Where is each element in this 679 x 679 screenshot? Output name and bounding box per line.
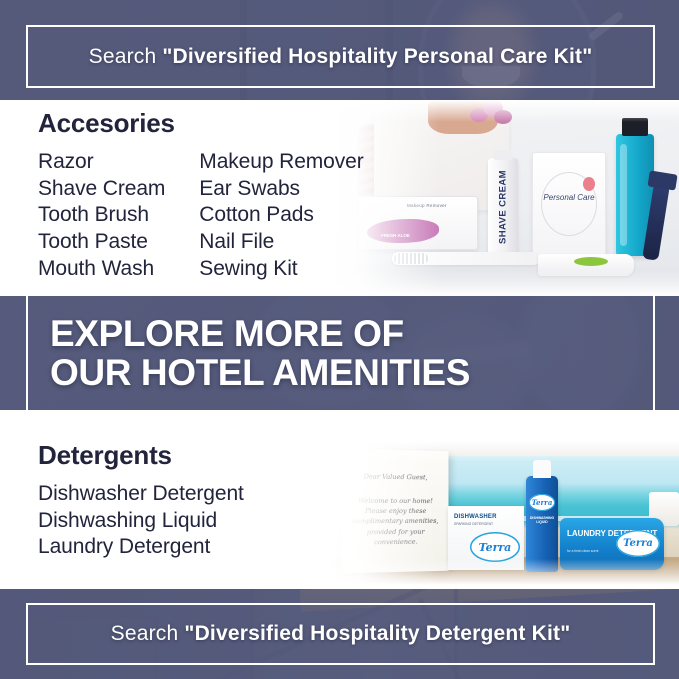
top-search-query: "Diversified Hospitality Personal Care K… [162,45,592,68]
accessory-item: Cotton Pads [199,202,363,229]
explore-heading: EXPLORE MORE OF OUR HOTEL AMENITIES [28,314,470,392]
laundry-detergent-pouch: LAUNDRY DETERGENT for a fresh clean scen… [560,518,664,570]
dishwashing-liquid-bottle: Terra DISHWASHING LIQUID [526,476,558,572]
bottle-cap-shape [622,118,648,136]
soap-label: Personal Care [533,193,605,202]
toothpaste-tube-product [538,254,634,276]
accessory-item: Tooth Paste [38,229,165,256]
accessories-title: Accesories [38,108,364,139]
note-salutation: Dear Valued Guest, [341,471,448,483]
detergent-kit-photo: Dear Valued Guest, Welcome to our home! … [330,440,679,585]
detergents-text-block: Detergents Dishwasher Detergent Dishwash… [38,440,244,561]
terra-brand-logo: Terra [470,532,520,562]
toothpaste-brand-shape [574,257,608,266]
terra-brand-logo: Terra [529,494,555,511]
makeup-remover-wipes-package: Makeup Remover FRESH ALOE [358,196,478,250]
tube-cap-shape [494,150,512,160]
bottom-search-query: "Diversified Hospitality Detergent Kit" [184,622,570,645]
shave-cream-tube: SHAVE CREAM [488,158,518,256]
bottom-search-text: Search "Diversified Hospitality Detergen… [111,622,571,646]
laundry-pouch-subtitle: for a fresh clean scent [567,549,598,553]
detergents-list: Dishwasher Detergent Dishwashing Liquid … [38,481,244,561]
detergent-item: Dishwashing Liquid [38,508,244,535]
soap-accent-shape [583,177,595,191]
bottom-search-banner: Search "Diversified Hospitality Detergen… [0,589,679,679]
welcome-note-card: Dear Valued Guest, Welcome to our home! … [341,449,448,574]
detergent-item: Laundry Detergent [38,534,244,561]
top-search-lead: Search [89,45,163,68]
accessory-item: Sewing Kit [199,256,363,283]
accessory-item: Ear Swabs [199,176,363,203]
detergents-section: Dear Valued Guest, Welcome to our home! … [0,410,679,589]
wipes-swoosh-shape [367,219,439,243]
note-body: Welcome to our home! Please enjoy these … [341,496,448,548]
accessories-columns: Razor Shave Cream Tooth Brush Tooth Past… [38,149,364,282]
accessories-column-1: Razor Shave Cream Tooth Brush Tooth Past… [38,149,165,282]
personal-care-soap-box: Personal Care [532,152,606,256]
detergents-title: Detergents [38,440,244,471]
top-banner-frame: Search "Diversified Hospitality Personal… [26,25,655,88]
liquid-bottle-label: DISHWASHING LIQUID [526,516,558,524]
dishwasher-packet-subtitle: SPARKING DETERGENT [454,522,493,526]
orchid-flower-icon [470,100,514,134]
accessory-item: Mouth Wash [38,256,165,283]
toothbrush-product [392,252,540,265]
toothbrush-bristles-shape [394,253,428,264]
accessory-item: Nail File [199,229,363,256]
personal-care-kit-photo: Makeup Remover FRESH ALOE SHAVE CREAM Pe… [330,100,679,296]
accessories-section: Makeup Remover FRESH ALOE SHAVE CREAM Pe… [0,100,679,296]
top-search-text: Search "Diversified Hospitality Personal… [89,45,593,69]
wipes-sublabel: FRESH ALOE [381,233,410,238]
shave-cream-label: SHAVE CREAM [498,170,509,244]
bottle-cap-shape [533,460,551,478]
terra-brand-logo: Terra [616,530,660,557]
explore-heading-line2: OUR HOTEL AMENITIES [50,353,470,392]
explore-banner: EXPLORE MORE OF OUR HOTEL AMENITIES [0,296,679,410]
top-search-banner: Search "Diversified Hospitality Personal… [0,0,679,100]
accessories-text-block: Accesories Razor Shave Cream Tooth Brush… [38,108,364,282]
accessory-item: Makeup Remover [199,149,363,176]
dishwasher-packet-title: DISHWASHER [454,514,497,520]
wipes-label: Makeup Remover [407,203,447,208]
explore-heading-line1: EXPLORE MORE OF [50,313,404,354]
bottle-highlight-shape [620,144,627,246]
bottom-search-lead: Search [111,622,185,645]
bottom-banner-frame: Search "Diversified Hospitality Detergen… [26,603,655,665]
amenities-infographic: Search "Diversified Hospitality Personal… [0,0,679,679]
accessory-item: Shave Cream [38,176,165,203]
orchid-petal [494,110,512,124]
accessory-item: Tooth Brush [38,202,165,229]
dishwasher-detergent-packet: DISHWASHER SPARKING DETERGENT Terra [448,506,524,570]
explore-banner-frame: EXPLORE MORE OF OUR HOTEL AMENITIES [26,296,655,410]
accessory-item: Razor [38,149,165,176]
detergent-item: Dishwasher Detergent [38,481,244,508]
accessories-column-2: Makeup Remover Ear Swabs Cotton Pads Nai… [199,149,363,282]
